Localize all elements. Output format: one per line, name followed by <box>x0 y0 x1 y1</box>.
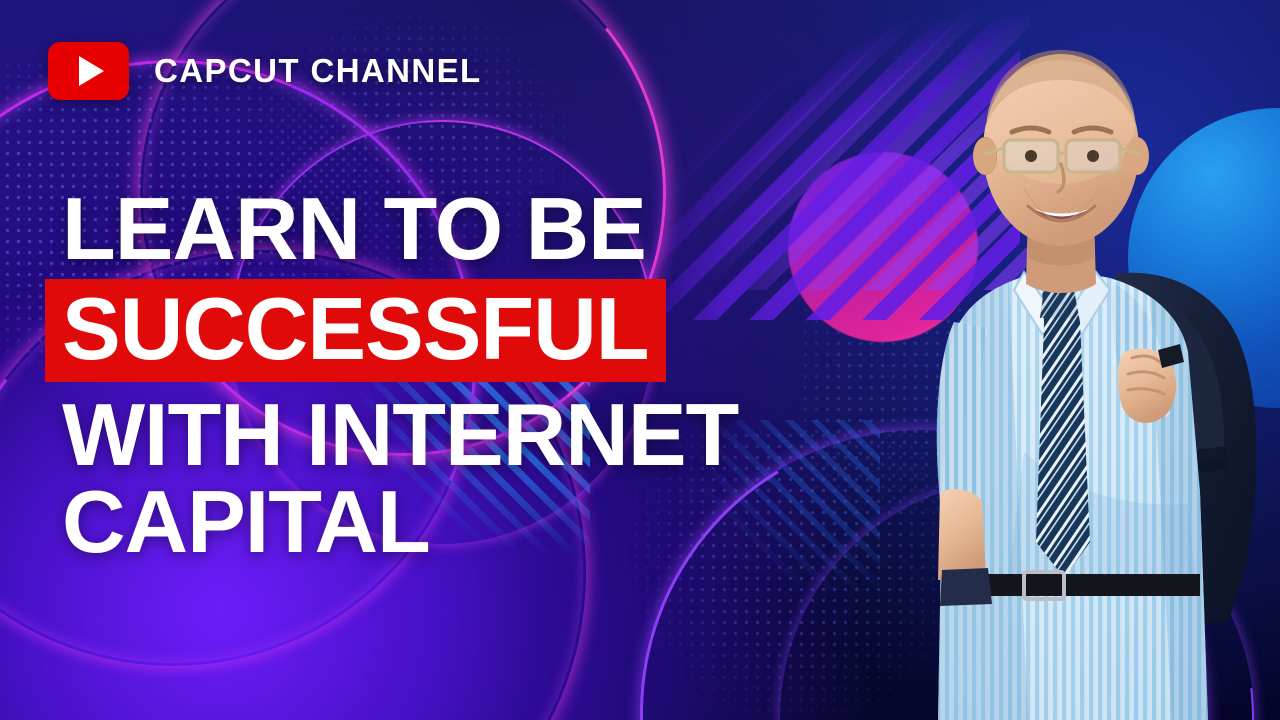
headline-highlight-band: SUCCESSFUL <box>45 279 666 381</box>
youtube-thumbnail: CAPCUT CHANNEL LEARN TO BE SUCCESSFUL WI… <box>0 0 1280 720</box>
headline-line-1: LEARN TO BE <box>62 186 902 271</box>
headline-line-2: SUCCESSFUL <box>62 286 649 371</box>
headline-line-4: CAPITAL <box>62 479 902 564</box>
youtube-play-icon[interactable] <box>48 42 129 100</box>
headline-line-3: WITH INTERNET <box>62 392 902 477</box>
headline-block: LEARN TO BE SUCCESSFUL WITH INTERNET CAP… <box>62 186 902 564</box>
play-triangle-icon <box>79 56 104 86</box>
channel-badge[interactable]: CAPCUT CHANNEL <box>48 42 482 100</box>
left-forearm <box>938 489 986 580</box>
channel-name: CAPCUT CHANNEL <box>154 52 482 90</box>
